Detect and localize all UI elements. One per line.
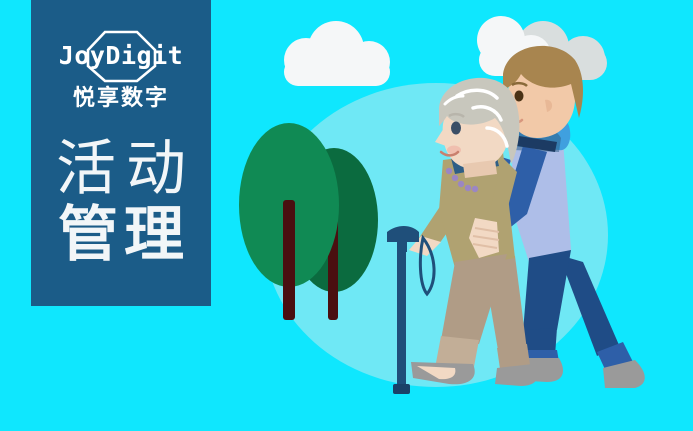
logo-block: JoyDigit 悦享数字 bbox=[31, 28, 211, 128]
poster-canvas: JoyDigit 悦享数字 活动 管理 bbox=[0, 0, 693, 431]
brand-panel: JoyDigit 悦享数字 活动 管理 bbox=[31, 0, 211, 306]
poster-title: 活动 管理 bbox=[31, 136, 211, 268]
joydigit-logo: JoyDigit bbox=[31, 28, 211, 84]
young-man-eye bbox=[515, 91, 524, 102]
title-line-1: 活动 bbox=[31, 136, 211, 202]
illustration-scene bbox=[211, 0, 693, 431]
title-line-2: 管理 bbox=[31, 202, 211, 268]
elderly-woman-eye bbox=[451, 122, 461, 135]
logo-wordmark: JoyDigit bbox=[59, 41, 183, 70]
brand-chinese-name: 悦享数字 bbox=[31, 86, 211, 112]
